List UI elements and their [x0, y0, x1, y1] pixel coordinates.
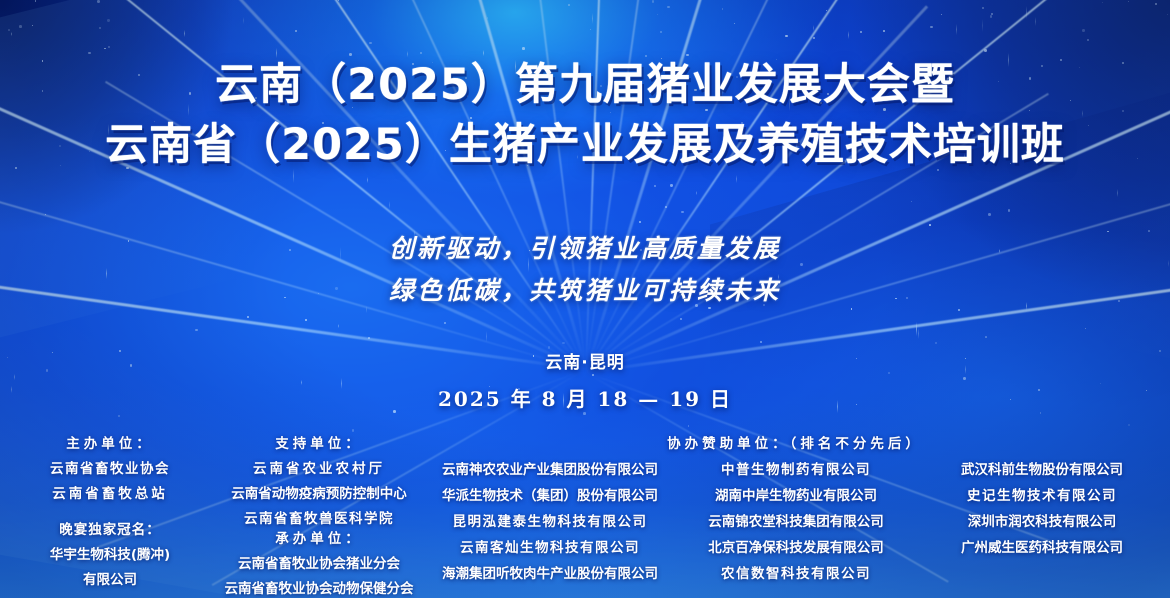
sponsor-item: 北京百净保科技发展有限公司: [676, 536, 916, 556]
sponsor-item: 深圳市润农科技有限公司: [922, 510, 1162, 530]
sponsor-item: 农信数智科技有限公司: [676, 562, 916, 582]
dinner-sponsor-item: 有限公司: [10, 568, 210, 588]
sponsor-item: 云南神农农业产业集团股份有限公司: [430, 458, 670, 478]
organizer-heading: 承办单位：: [206, 527, 432, 547]
conference-poster: 云南（2025）第九届猪业发展大会暨 云南省（2025）生猪产业发展及养殖技术培…: [0, 0, 1170, 598]
sponsor-item: 广州威生医药科技有限公司: [922, 536, 1162, 556]
poster-slogan: 创新驱动，引领猪业高质量发展 绿色低碳，共筑猪业可持续未来: [0, 228, 1170, 312]
sponsor-item: 昆明泓建泰生物科技有限公司: [430, 510, 670, 530]
support-item: 云南省畜牧兽医科学院: [206, 507, 432, 527]
sponsor-column-1: 云南神农农业产业集团股份有限公司 华派生物技术（集团）股份有限公司 昆明泓建泰生…: [430, 458, 670, 588]
event-location: 云南·昆明: [0, 348, 1170, 373]
title-line-1: 云南（2025）第九届猪业发展大会暨: [0, 58, 1170, 112]
event-date: 2025 年 8 月 18 — 19 日: [0, 383, 1170, 412]
organizer-item: 云南省畜牧业协会动物保健分会: [206, 577, 432, 597]
sponsor-column-2: 中普生物制药有限公司 湖南中岸生物药业有限公司 云南锦农堂科技集团有限公司 北京…: [676, 458, 916, 588]
slogan-line-1: 创新驱动，引领猪业高质量发展: [0, 228, 1170, 270]
sponsor-item: 中普生物制药有限公司: [676, 458, 916, 478]
poster-meta: 云南·昆明 2025 年 8 月 18 — 19 日: [0, 348, 1170, 412]
sponsor-item: 武汉科前生物股份有限公司: [922, 458, 1162, 478]
host-item: 云南省畜牧总站: [10, 482, 210, 502]
spacer: [10, 502, 210, 518]
sponsor-item: 云南锦农堂科技集团有限公司: [676, 510, 916, 530]
sponsor-item: 云南客灿生物科技有限公司: [430, 536, 670, 556]
sponsor-heading-wrap: 协办赞助单位：（排名不分先后）: [430, 432, 1160, 452]
poster-title: 云南（2025）第九届猪业发展大会暨 云南省（2025）生猪产业发展及养殖技术培…: [0, 58, 1170, 172]
host-item: 云南省畜牧业协会: [10, 457, 210, 477]
sponsor-columns: 云南神农农业产业集团股份有限公司 华派生物技术（集团）股份有限公司 昆明泓建泰生…: [430, 458, 1162, 588]
poster-content: 云南（2025）第九届猪业发展大会暨 云南省（2025）生猪产业发展及养殖技术培…: [0, 0, 1170, 598]
sponsor-item: 海潮集团听牧肉牛产业股份有限公司: [430, 562, 670, 582]
sponsor-item: 史记生物技术有限公司: [922, 484, 1162, 504]
slogan-line-2: 绿色低碳，共筑猪业可持续未来: [0, 270, 1170, 312]
support-item: 云南省农业农村厅: [206, 457, 432, 477]
sponsor-item: 华派生物技术（集团）股份有限公司: [430, 484, 670, 504]
sponsor-item: 湖南中岸生物药业有限公司: [676, 484, 916, 504]
support-column: 支持单位： 云南省农业农村厅 云南省动物疫病预防控制中心 云南省畜牧兽医科学院 …: [206, 432, 432, 597]
support-heading: 支持单位：: [206, 432, 432, 452]
sponsor-heading: 协办赞助单位：（排名不分先后）: [430, 432, 1160, 452]
organizer-item: 云南省畜牧业协会猪业分会: [206, 552, 432, 572]
sponsor-column-3: 武汉科前生物股份有限公司 史记生物技术有限公司 深圳市润农科技有限公司 广州威生…: [922, 458, 1162, 588]
host-column: 主办单位： 云南省畜牧业协会 云南省畜牧总站 晚宴独家冠名： 华宇生物科技(腾冲…: [10, 432, 210, 588]
credits-section: 主办单位： 云南省畜牧业协会 云南省畜牧总站 晚宴独家冠名： 华宇生物科技(腾冲…: [0, 432, 1170, 598]
support-item: 云南省动物疫病预防控制中心: [206, 482, 432, 502]
host-heading: 主办单位：: [10, 432, 210, 452]
title-line-2: 云南省（2025）生猪产业发展及养殖技术培训班: [0, 118, 1170, 172]
dinner-sponsor-item: 华宇生物科技(腾冲): [10, 543, 210, 563]
dinner-sponsor-heading: 晚宴独家冠名：: [10, 518, 210, 538]
